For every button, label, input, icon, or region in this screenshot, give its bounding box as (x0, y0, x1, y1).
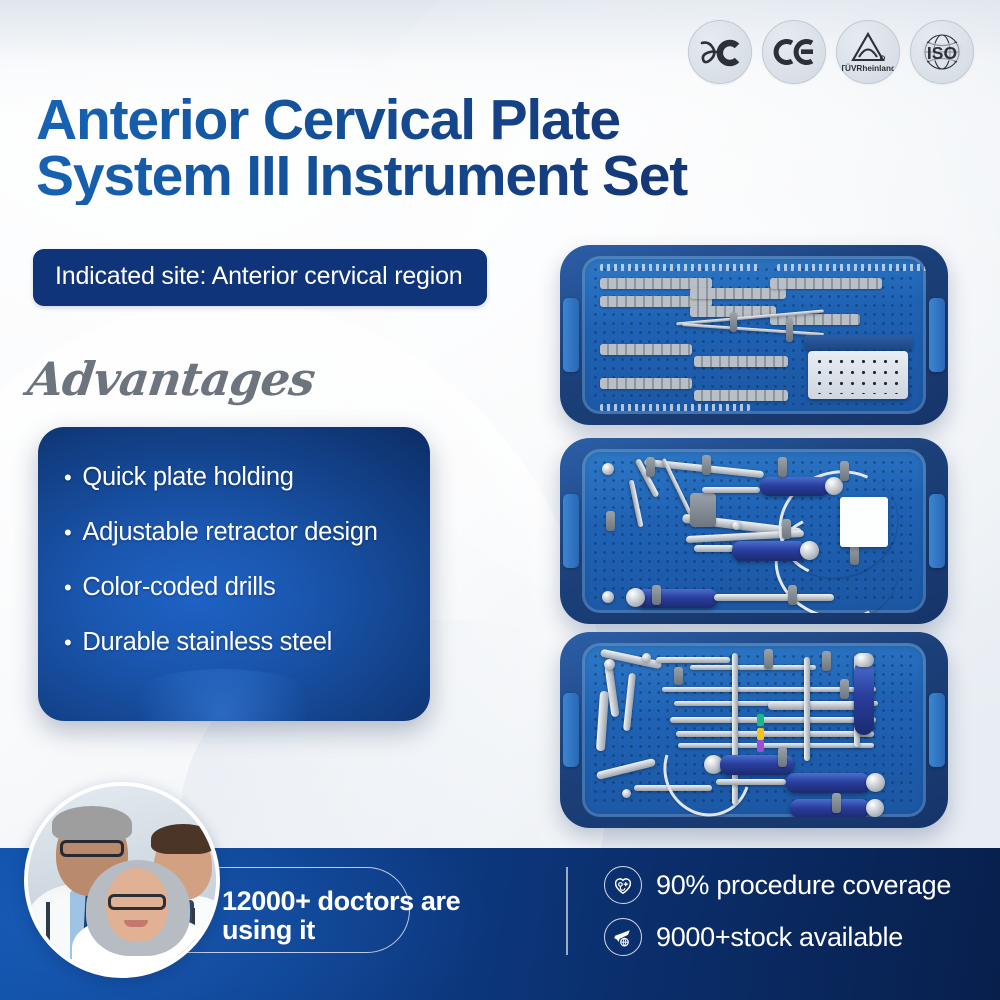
advantage-label: Color-coded drills (82, 573, 275, 602)
drill-color-ring-green (757, 714, 764, 726)
drill-shaft (678, 743, 874, 748)
blue-handle (636, 589, 718, 608)
blue-handle (760, 477, 830, 496)
advantages-list: • Quick plate holding • Adjustable retra… (38, 427, 430, 657)
instrument-clamp (652, 585, 661, 605)
tuv-rheinland-badge: TÜVRheinland TÜVRheinland (836, 20, 900, 84)
screw-row (770, 278, 882, 289)
drill-shaft (690, 665, 816, 670)
instrument-clamp (646, 457, 655, 477)
screw-row (690, 288, 786, 299)
doctor-senior-female (82, 854, 200, 978)
tray-handle-right (929, 693, 945, 767)
driver-shaft (714, 594, 834, 601)
stethoscope (46, 902, 60, 968)
svg-text:ISO: ISO (927, 43, 957, 63)
tray-handle-right (929, 298, 945, 372)
instrument-clamp (782, 519, 791, 539)
instrument-clamp (788, 585, 797, 605)
footer-divider (566, 867, 568, 955)
driver-knob (626, 588, 645, 607)
blue-handle (732, 541, 806, 561)
drill-shaft (670, 717, 876, 723)
retractor-rack (656, 657, 730, 663)
instrument-clamp (764, 649, 773, 669)
smile (124, 920, 148, 927)
instrument-clamp (778, 747, 787, 767)
iso-certification-badge: ISO ISO (910, 20, 974, 84)
ce-certification-badge: CE (762, 20, 826, 84)
product-poster: xC CE TÜVRheinland TÜVRheinland (0, 0, 1000, 1000)
t-handle-bar (804, 657, 810, 761)
tray-drills-retractors (560, 632, 948, 828)
svg-text:TÜVRheinland: TÜVRheinland (842, 63, 894, 73)
instrument-clamp (702, 455, 711, 475)
tray-screws-implants (560, 245, 948, 425)
list-item: • Color-coded drills (64, 573, 430, 602)
advantage-label: Quick plate holding (82, 463, 293, 492)
tray-inner-panel (582, 449, 926, 613)
driver-knob (866, 799, 884, 817)
bullet-icon: • (64, 577, 71, 599)
blue-handle (854, 661, 874, 735)
blue-handle (786, 773, 870, 793)
bullet-icon: • (64, 522, 71, 544)
instrument-clamp (606, 511, 615, 531)
advantage-label: Durable stainless steel (82, 628, 332, 657)
stat-label: 90% procedure coverage (656, 870, 951, 901)
blue-handle (790, 799, 870, 817)
instrument-clamp (778, 457, 787, 477)
info-card (840, 497, 888, 547)
airplane-globe-icon (604, 918, 642, 956)
doctor-hair (151, 824, 215, 854)
plate-clamp (786, 318, 793, 342)
instrument-clamp (832, 793, 841, 813)
tray-screw (602, 463, 614, 475)
drill-color-ring-yellow (757, 728, 764, 740)
advantage-label: Adjustable retractor design (82, 518, 377, 547)
size-label-strip (600, 264, 760, 271)
footer-stats: 90% procedure coverage 9000+stock availa… (604, 866, 951, 956)
tray-handle-left (563, 494, 579, 568)
plate-holder-block (690, 493, 716, 527)
depth-gauge (768, 701, 864, 710)
instrument-clamp (674, 667, 683, 685)
drill-color-ring-purple (757, 740, 764, 752)
driver-shaft (694, 545, 734, 552)
instrument-clamp (850, 545, 859, 565)
size-label-strip (600, 404, 750, 411)
page-title: Anterior Cervical Plate System III Instr… (36, 92, 896, 205)
list-item: • Durable stainless steel (64, 628, 430, 657)
screw-caddy (808, 351, 908, 399)
instrument-clamp (822, 651, 831, 671)
instrument-clamp (840, 461, 849, 481)
retractor-screw (622, 789, 631, 798)
driver-knob (854, 653, 874, 667)
tray-screw (602, 591, 614, 603)
tray-inner-panel (582, 256, 926, 414)
xc-certification-badge: xC (688, 20, 752, 84)
screw-row (694, 356, 788, 367)
doctors-stat-label: 12000+ doctors are using it (222, 887, 512, 945)
doctor-hair (52, 806, 132, 842)
driver-shaft (716, 779, 786, 785)
certification-badges: xC CE TÜVRheinland TÜVRheinland (688, 20, 974, 84)
plier-pivot (732, 521, 741, 530)
caddy-lid (804, 335, 912, 350)
stat-procedure-coverage: 90% procedure coverage (604, 866, 951, 904)
indicated-site-badge: Indicated site: Anterior cervical region (33, 249, 487, 306)
doctors-avatar (24, 782, 220, 978)
driver-knob (866, 773, 885, 792)
screw-row (600, 378, 692, 389)
tray-handle-left (563, 298, 579, 372)
eyeglasses (108, 894, 166, 910)
screw-row (694, 390, 788, 401)
stat-stock-available: 9000+stock available (604, 918, 951, 956)
drill-shaft (676, 731, 874, 737)
driver-knob (800, 541, 819, 560)
driver-shaft (702, 487, 760, 493)
tray-handle-left (563, 693, 579, 767)
bullet-icon: • (64, 467, 71, 489)
size-label-strip (777, 264, 926, 271)
instrument-clamp (840, 679, 849, 699)
tray-handle-right (929, 494, 945, 568)
advantages-card: • Quick plate holding • Adjustable retra… (38, 427, 430, 721)
heart-stethoscope-icon (604, 866, 642, 904)
screw-row (600, 344, 692, 355)
advantages-heading: Advantages (25, 352, 318, 406)
retractor-screw (642, 653, 651, 662)
bullet-icon: • (64, 632, 71, 654)
plate-clamp (730, 312, 737, 332)
stat-label: 9000+stock available (656, 922, 903, 953)
list-item: • Quick plate holding (64, 463, 430, 492)
tray-inner-panel (582, 643, 926, 817)
list-item: • Adjustable retractor design (64, 518, 430, 547)
title-line-2: System III Instrument Set (36, 148, 896, 204)
tray-screw (604, 659, 615, 670)
title-line-1: Anterior Cervical Plate (36, 88, 620, 152)
tray-forceps-pliers (560, 438, 948, 624)
caddy-holes (814, 356, 902, 394)
